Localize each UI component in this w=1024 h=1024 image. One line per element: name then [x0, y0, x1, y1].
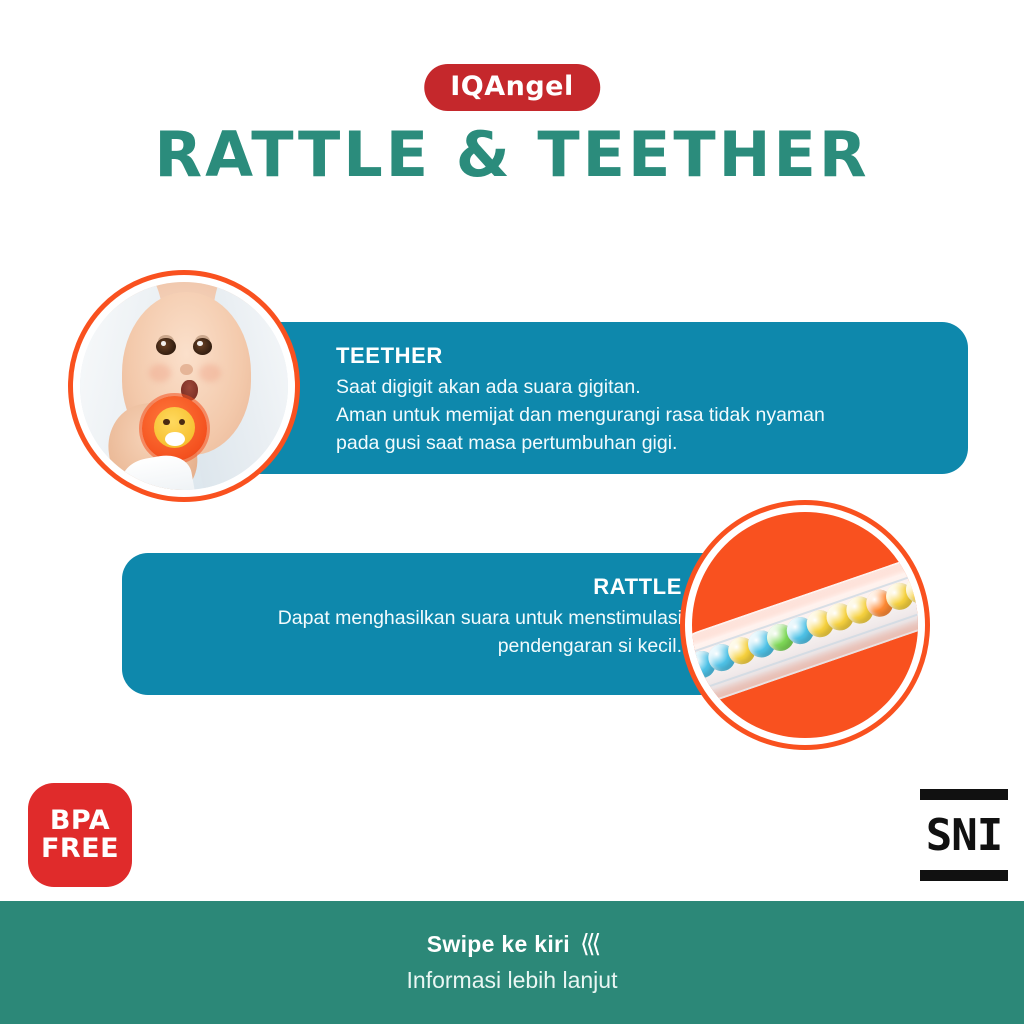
photo-rattle-product — [680, 500, 930, 750]
feature-line: pendengaran si kecil. — [152, 633, 682, 661]
rattle-tube — [692, 547, 918, 712]
footer-cta-row[interactable]: Swipe ke kiri ⟨⟨⟨ — [427, 931, 598, 958]
baby-photo-illustration — [80, 282, 288, 490]
footer-cta-label: Swipe ke kiri — [427, 931, 570, 958]
cheek-left — [149, 364, 171, 382]
feature-line: pada gusi saat masa pertumbuhan gigi. — [336, 430, 938, 458]
nose — [180, 364, 193, 375]
bpa-line-2: FREE — [41, 835, 119, 863]
sni-bar-bottom — [920, 870, 1008, 881]
cheek-right — [199, 364, 221, 382]
rattle-photo-illustration — [692, 512, 918, 738]
feature-line: Aman untuk memijat dan mengurangi rasa t… — [336, 402, 938, 430]
lion-face — [154, 407, 195, 448]
badge-bpa-free: BPA FREE — [28, 783, 132, 887]
photo-baby-teether — [68, 270, 300, 502]
bpa-line-1: BPA — [50, 807, 110, 835]
feature-title-teether: TEETHER — [336, 344, 938, 368]
sni-bar-top — [920, 789, 1008, 800]
eye-right — [193, 338, 212, 355]
feature-line: Dapat menghasilkan suara untuk menstimul… — [152, 605, 682, 633]
feature-body-teether: Saat digigit akan ada suara gigitan. Ama… — [336, 374, 938, 457]
feature-title-rattle: RATTLE — [152, 575, 682, 599]
lion-muzzle — [165, 432, 185, 446]
feature-panel-teether: TEETHER Saat digigit akan ada suara gigi… — [200, 322, 968, 474]
chevron-left-icon: ⟨⟨⟨ — [580, 932, 597, 957]
infographic-canvas: IQAngel RATTLE & TEETHER TEETHER Saat di… — [0, 0, 1024, 1024]
footer-subtitle: Informasi lebih lanjut — [407, 967, 618, 994]
badge-sni: SNI — [920, 789, 1008, 881]
footer-bar: Swipe ke kiri ⟨⟨⟨ Informasi lebih lanjut — [0, 901, 1024, 1024]
page-title: RATTLE & TEETHER — [0, 118, 1024, 191]
feature-body-rattle: Dapat menghasilkan suara untuk menstimul… — [152, 605, 682, 660]
brand-logo-text: IQAngel — [450, 71, 574, 102]
feature-line: Saat digigit akan ada suara gigitan. — [336, 374, 938, 402]
bead-row — [692, 549, 918, 646]
sni-label: SNI — [920, 812, 1008, 859]
eye-left — [156, 338, 175, 355]
brand-logo: IQAngel — [424, 64, 600, 111]
lion-teether-toy — [142, 396, 206, 460]
